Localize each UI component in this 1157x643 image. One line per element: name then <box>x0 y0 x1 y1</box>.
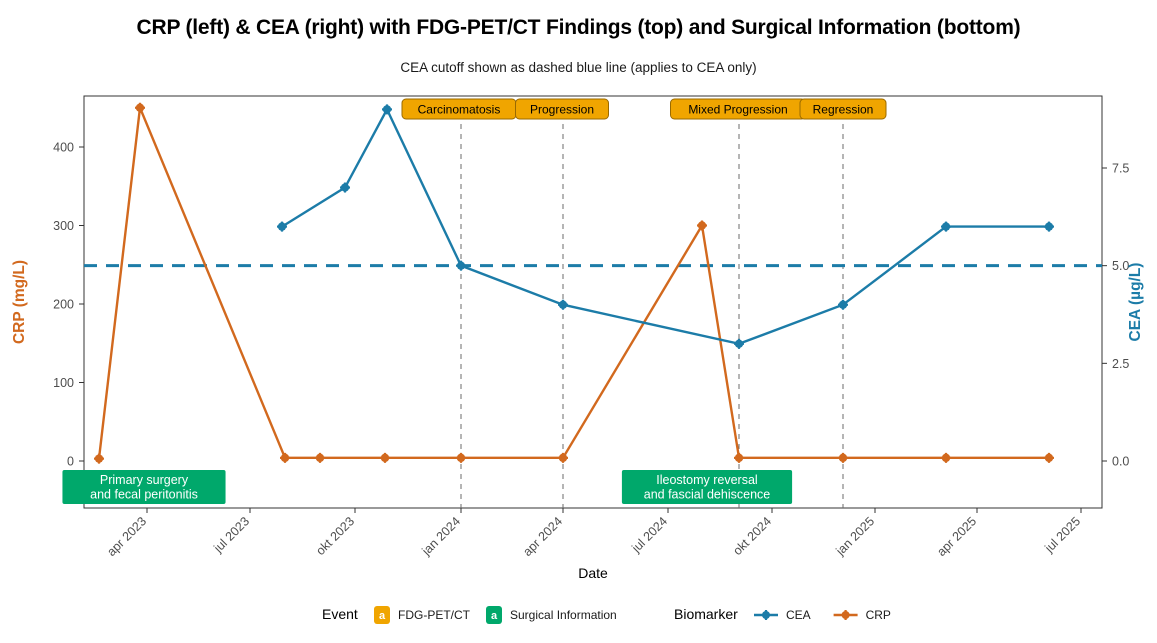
x-tick-label: apr 2024 <box>520 514 565 559</box>
y-left-axis-title: CRP (mg/L) <box>11 260 28 344</box>
y-left-tick-label: 200 <box>53 298 74 312</box>
x-tick-label: jul 2024 <box>629 514 671 556</box>
legend-biomarker-label: CRP <box>866 608 891 622</box>
y-right-tick-label: 2.5 <box>1112 357 1129 371</box>
x-tick-label: apr 2023 <box>104 514 149 559</box>
surgical-event-0[interactable]: Primary surgeryand fecal peritonitis <box>62 470 225 504</box>
legend-swatch-glyph: a <box>491 610 498 622</box>
panel-border <box>84 96 1102 508</box>
surgical-event-1[interactable]: Ileostomy reversaland fascial dehiscence <box>622 470 792 504</box>
y-left-tick-label: 400 <box>53 141 74 155</box>
chart-root: CRP (left) & CEA (right) with FDG-PET/CT… <box>0 0 1157 643</box>
surgical-box-line: and fascial dehiscence <box>644 488 771 502</box>
y-left-tick-label: 300 <box>53 219 74 233</box>
y-right-tick-label: 0.0 <box>1112 455 1129 469</box>
legend-biomarker-title: Biomarker <box>674 606 738 622</box>
plot-panel <box>84 96 1102 508</box>
y-right-tick-label: 7.5 <box>1112 162 1129 176</box>
x-tick-label: jul 2023 <box>211 514 253 556</box>
legend-swatch-glyph: a <box>379 610 386 622</box>
event-box-label: Regression <box>813 103 874 117</box>
surgical-box-line: Ileostomy reversal <box>656 473 757 487</box>
legend-event-entry-0[interactable]: aFDG-PET/CT <box>374 606 471 624</box>
legend-event-label: FDG-PET/CT <box>398 608 471 622</box>
legend-event-title: Event <box>322 606 358 622</box>
chart-svg: 0100200300400CRP (mg/L)0.02.55.07.5CEA (… <box>0 0 1157 643</box>
fdg-event-2[interactable]: Mixed Progression <box>671 99 806 119</box>
y-left-tick-label: 0 <box>67 455 74 469</box>
x-axis-title: Date <box>578 565 608 581</box>
x-tick-label: apr 2025 <box>934 514 979 559</box>
fdg-event-3[interactable]: Regression <box>800 99 886 119</box>
legend-biomarker-entry-1[interactable]: CRP <box>834 608 891 622</box>
event-box-label: Mixed Progression <box>688 103 787 117</box>
legend-event-label: Surgical Information <box>510 608 617 622</box>
x-tick-label: okt 2024 <box>730 514 774 558</box>
x-tick-label: okt 2023 <box>313 514 357 558</box>
fdg-event-1[interactable]: Progression <box>516 99 609 119</box>
y-left-tick-label: 100 <box>53 376 74 390</box>
surgical-box-line: and fecal peritonitis <box>90 488 198 502</box>
legend-event-entry-1[interactable]: aSurgical Information <box>486 606 617 624</box>
x-tick-label: jul 2025 <box>1042 514 1084 556</box>
surgical-box-line: Primary surgery <box>100 473 189 487</box>
event-box-label: Progression <box>530 103 594 117</box>
legend-biomarker-entry-0[interactable]: CEA <box>754 608 811 622</box>
event-box-label: Carcinomatosis <box>418 103 501 117</box>
legend-biomarker-label: CEA <box>786 608 811 622</box>
x-tick-label: jan 2024 <box>419 514 464 559</box>
x-tick-label: jan 2025 <box>833 514 878 559</box>
y-right-axis-title: CEA (µg/L) <box>1127 263 1144 342</box>
chart-legend[interactable]: EventaFDG-PET/CTaSurgical InformationBio… <box>322 606 891 624</box>
fdg-event-0[interactable]: Carcinomatosis <box>402 99 516 119</box>
